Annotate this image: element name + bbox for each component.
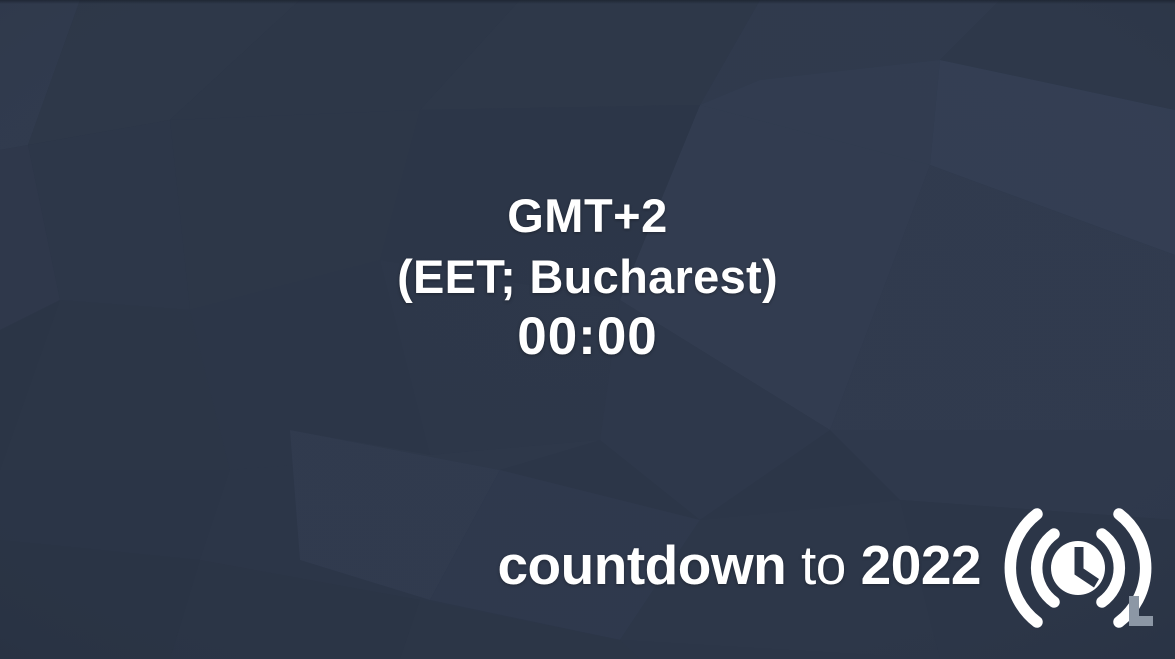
countdown-screen: GMT+2 (EET; Bucharest) 00:00 countdown t… bbox=[0, 0, 1175, 659]
broadcast-clock-icon bbox=[1003, 500, 1153, 636]
wordmark: countdown to 2022 bbox=[497, 533, 981, 597]
brand-lockup: countdown to 2022 bbox=[0, 505, 1175, 631]
wordmark-year: 2022 bbox=[861, 534, 981, 596]
timezone-name-label: (EET; Bucharest) bbox=[0, 253, 1175, 300]
timezone-offset-label: GMT+2 bbox=[0, 192, 1175, 239]
wordmark-countdown: countdown bbox=[497, 534, 786, 596]
local-time-readout: 00:00 bbox=[0, 310, 1175, 363]
timezone-clock-block: GMT+2 (EET; Bucharest) 00:00 bbox=[0, 192, 1175, 363]
wordmark-to: to bbox=[801, 534, 846, 596]
